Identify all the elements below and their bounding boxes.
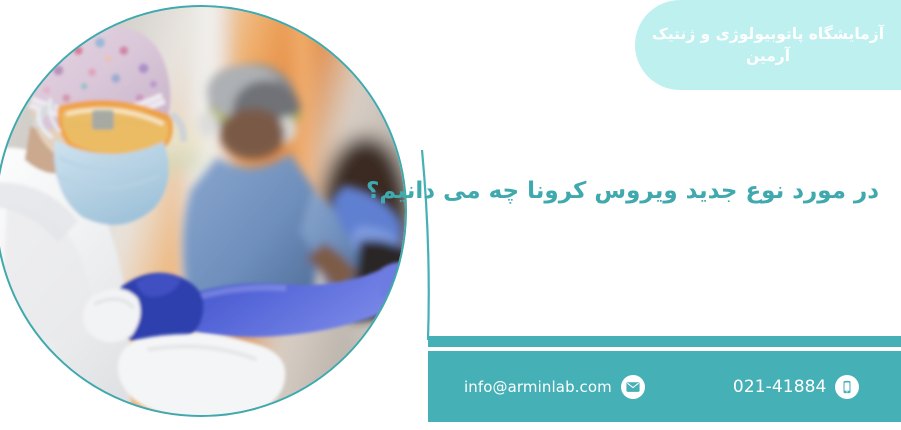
footer-email-item[interactable]: info@arminlab.com	[464, 375, 645, 399]
header-brand-badge: آزمایشگاه پاتوبیولوژی و ژنتیک آرمین	[635, 0, 901, 90]
mobile-phone-icon	[835, 375, 859, 399]
mobile-phone-icon-glyph	[840, 380, 854, 394]
hero-photo-illustration	[0, 7, 405, 415]
footer-email-label: info@arminlab.com	[464, 378, 612, 396]
footer-phone-item[interactable]: 021-41884	[733, 375, 860, 399]
hero-photo-circle	[0, 5, 407, 417]
banner-canvas: آزمایشگاه پاتوبیولوژی و ژنتیک آرمین در م…	[0, 0, 901, 430]
hero-photo	[0, 7, 405, 415]
envelope-icon	[621, 375, 645, 399]
teal-divider-stripe	[428, 336, 901, 347]
envelope-icon-glyph	[626, 380, 640, 394]
headline-block: در مورد نوع جدید ویروس کرونا چه می دانیم…	[429, 176, 879, 207]
page-title: در مورد نوع جدید ویروس کرونا چه می دانیم…	[429, 176, 879, 207]
footer-phone-label: 021-41884	[733, 377, 827, 397]
footer-bottom-hairline	[428, 422, 901, 423]
header-brand-title: آزمایشگاه پاتوبیولوژی و ژنتیک آرمین	[635, 23, 901, 68]
contact-footer-bar: info@arminlab.com 021-41884	[428, 351, 901, 422]
